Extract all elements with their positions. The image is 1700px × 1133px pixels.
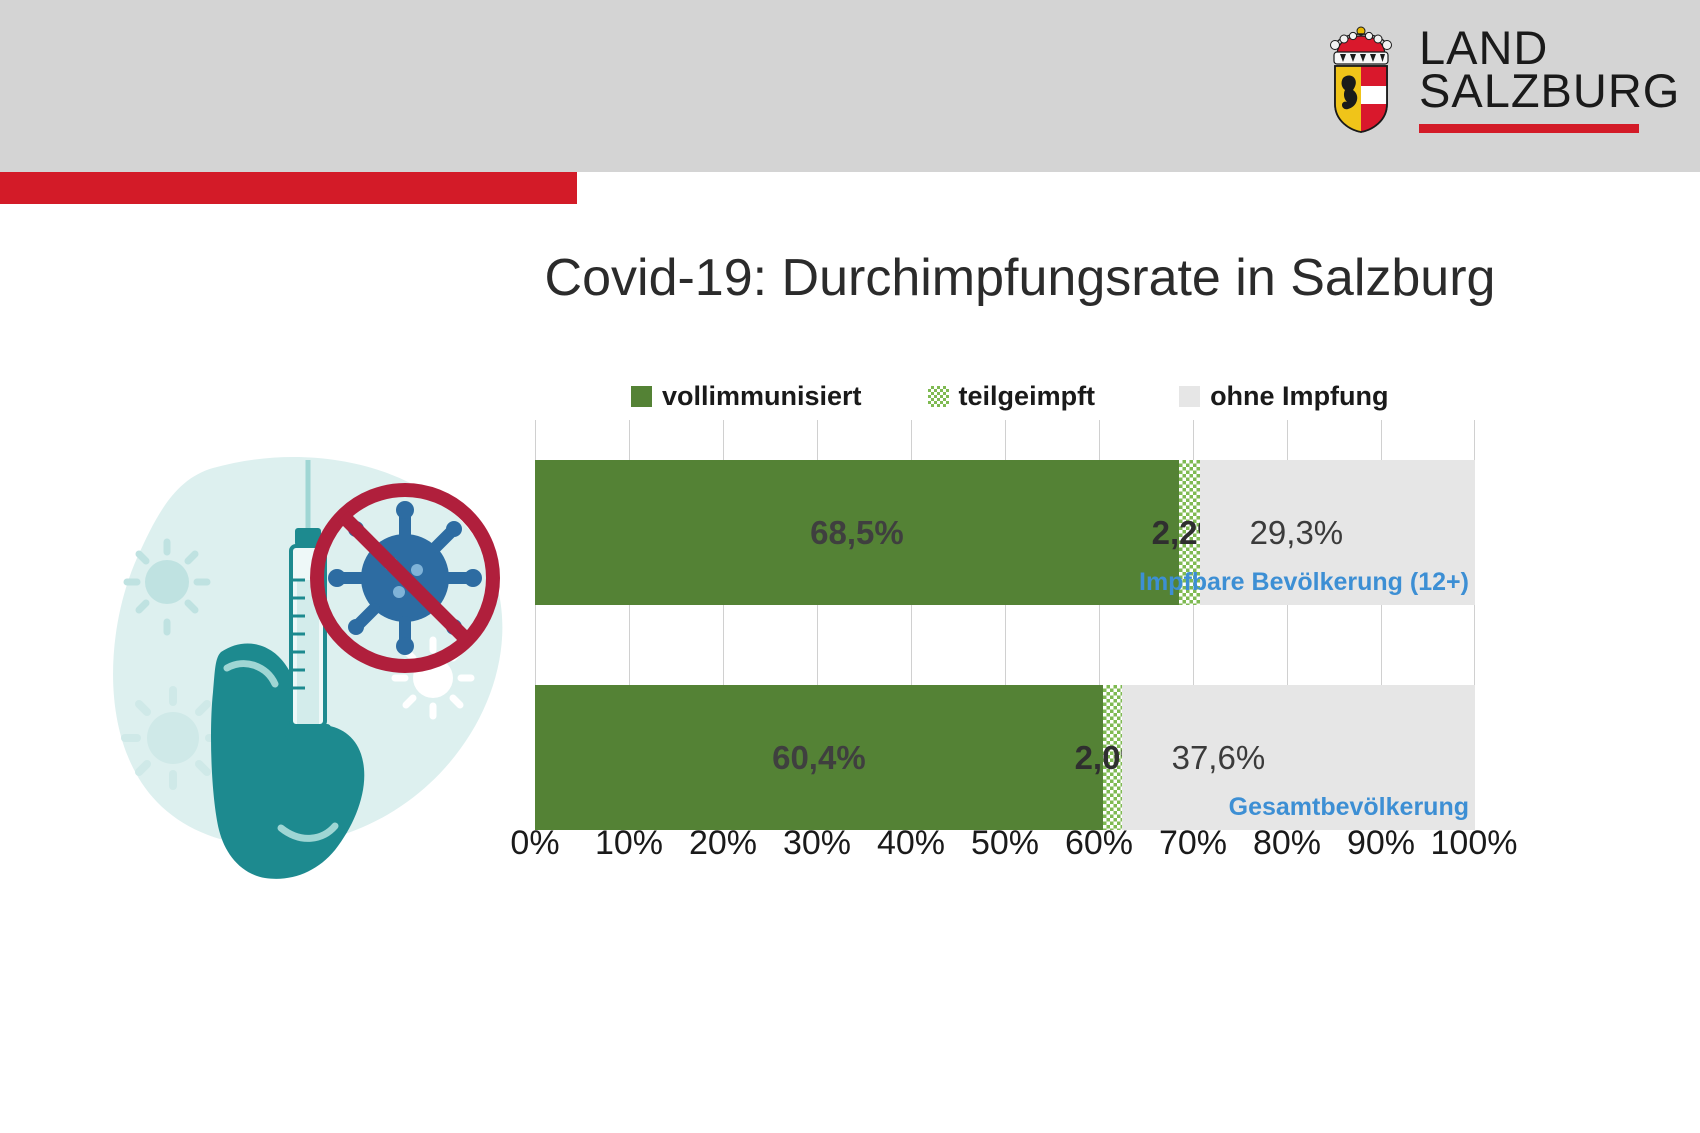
logo-wordmark: LAND SALZBURG xyxy=(1419,26,1680,133)
bar-segment-teilgeimpft: 2,0% xyxy=(1103,685,1122,830)
bar-label-ohne-impfung: 29,3% xyxy=(1250,514,1344,552)
bar-label-vollimmunisiert: 60,4% xyxy=(772,739,866,777)
legend-label-vollimmunisiert: vollimmunisiert xyxy=(662,381,862,412)
legend-item-vollimmunisiert: vollimmunisiert xyxy=(631,381,862,412)
legend-item-ohne-impfung: ohne Impfung xyxy=(1179,381,1388,412)
x-tick-label: 100% xyxy=(1431,824,1518,863)
x-tick-label: 80% xyxy=(1253,824,1321,863)
stacked-bar-chart: vollimmunisiert teilgeimpft ohne Impfung xyxy=(535,372,1475,892)
bar-category-label: Gesamtbevölkerung xyxy=(1229,793,1469,822)
legend-swatch-ohne-impfung xyxy=(1179,386,1200,407)
logo-underline xyxy=(1419,124,1639,133)
bar-category-label: Impfbare Bevölkerung (12+) xyxy=(1139,568,1469,597)
x-tick-label: 70% xyxy=(1159,824,1227,863)
x-tick-label: 10% xyxy=(595,824,663,863)
x-axis: 0% 10% 20% 30% 40% 50% 60% 70% 80% 90% 1… xyxy=(535,824,1475,884)
legend-swatch-teilgeimpft xyxy=(928,386,949,407)
vaccine-illustration xyxy=(95,430,535,880)
legend-item-teilgeimpft: teilgeimpft xyxy=(928,381,1096,412)
x-tick-label: 30% xyxy=(783,824,851,863)
land-salzburg-logo: LAND SALZBURG xyxy=(1325,26,1680,134)
bar-label-vollimmunisiert: 68,5% xyxy=(810,514,904,552)
bar-label-ohne-impfung: 37,6% xyxy=(1172,739,1266,777)
plot-area: 68,5% 2,2% 29,3% Impfbare Bevölkerung (1… xyxy=(535,420,1475,820)
x-tick-label: 50% xyxy=(971,824,1039,863)
x-tick-label: 20% xyxy=(689,824,757,863)
legend-label-ohne-impfung: ohne Impfung xyxy=(1210,381,1388,412)
x-tick-label: 60% xyxy=(1065,824,1133,863)
bar-row: 68,5% 2,2% 29,3% Impfbare Bevölkerung (1… xyxy=(535,460,1475,605)
bar-row: 60,4% 2,0% 37,6% Gesamtbevölkerung xyxy=(535,685,1475,830)
bar-segment-vollimmunisiert: 68,5% xyxy=(535,460,1179,605)
infographic-page: LAND SALZBURG Covid-19: Durchimpfungsrat… xyxy=(0,0,1700,1133)
logo-line-2: SALZBURG xyxy=(1419,69,1680,112)
legend-swatch-vollimmunisiert xyxy=(631,386,652,407)
red-accent-bar xyxy=(0,172,577,204)
chart-legend: vollimmunisiert teilgeimpft ohne Impfung xyxy=(535,372,1475,420)
x-tick-label: 90% xyxy=(1347,824,1415,863)
bar-segment-ohne-impfung: 37,6% Gesamtbevölkerung xyxy=(1122,685,1475,830)
legend-label-teilgeimpft: teilgeimpft xyxy=(959,381,1096,412)
page-title: Covid-19: Durchimpfungsrate in Salzburg xyxy=(530,248,1510,308)
salzburg-coat-of-arms-icon xyxy=(1325,26,1397,134)
bar-segment-vollimmunisiert: 60,4% xyxy=(535,685,1103,830)
bar-segment-ohne-impfung: 29,3% Impfbare Bevölkerung (12+) xyxy=(1200,460,1475,605)
logo-line-1: LAND xyxy=(1419,26,1680,69)
x-tick-label: 0% xyxy=(510,824,559,863)
x-tick-label: 40% xyxy=(877,824,945,863)
